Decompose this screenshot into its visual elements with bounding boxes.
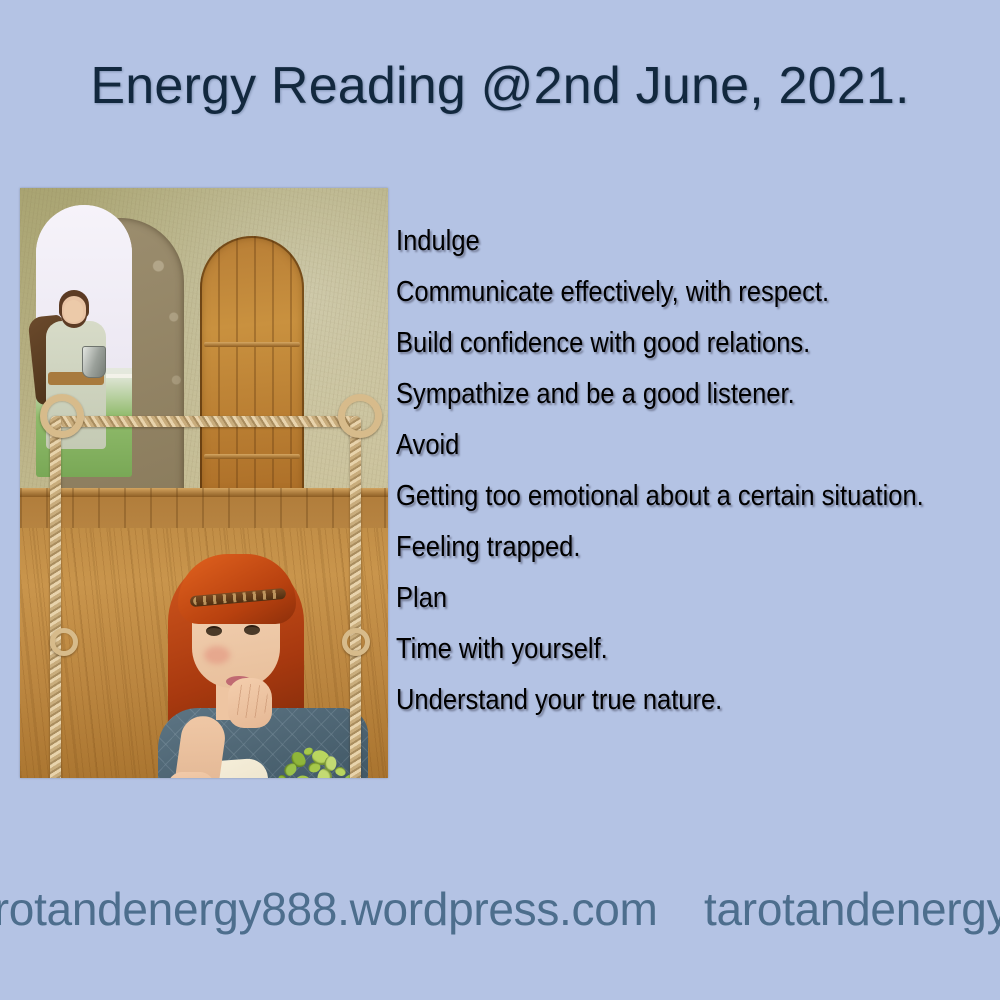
girl-eye — [244, 625, 260, 635]
tarot-card-artwork — [20, 188, 388, 778]
wooden-door — [200, 236, 304, 494]
girl-eye — [206, 626, 222, 636]
footer-site-url: tarotandenergy888.wordpress.com — [0, 883, 692, 935]
maiden-face — [64, 300, 83, 322]
reading-line: Feeling trapped. — [396, 522, 924, 573]
reading-line: Time with yourself. — [396, 624, 924, 675]
footer-watermark: tarotandenergy888.wordpress.com tarotand… — [0, 876, 1000, 948]
girl-finger-lines — [232, 684, 268, 718]
reading-line: Communicate effectively, with respect. — [396, 267, 924, 318]
reading-line: Getting too emotional about a certain si… — [396, 471, 924, 522]
girl-cheek-blush — [204, 646, 230, 664]
reading-line: Indulge — [396, 216, 924, 267]
rope-knot — [342, 628, 370, 656]
rope-border-top — [50, 416, 360, 427]
footer-site-url: tarotandenergy888.wordpress.com — [704, 883, 1000, 935]
reading-line: Plan — [396, 573, 924, 624]
rope-border-right — [350, 416, 361, 778]
reading-text-block: Indulge Communicate effectively, with re… — [396, 216, 996, 726]
energy-reading-slide: Energy Reading @2nd June, 2021. — [0, 0, 1000, 1000]
rope-border-left — [50, 416, 61, 778]
rope-knot — [338, 394, 382, 438]
rope-knot — [40, 394, 84, 438]
footer-marquee-track: tarotandenergy888.wordpress.com tarotand… — [0, 876, 1000, 942]
reading-line: Avoid — [396, 420, 924, 471]
maiden-cup — [82, 346, 106, 378]
reading-line: Sympathize and be a good listener. — [396, 369, 924, 420]
page-title: Energy Reading @2nd June, 2021. — [0, 56, 1000, 116]
reading-line: Understand your true nature. — [396, 675, 924, 726]
plant-leaf — [294, 774, 310, 778]
rope-knot — [50, 628, 78, 656]
tarot-card-image — [20, 188, 388, 778]
door-outline — [200, 236, 304, 494]
reading-line: Build confidence with good relations. — [396, 318, 924, 369]
